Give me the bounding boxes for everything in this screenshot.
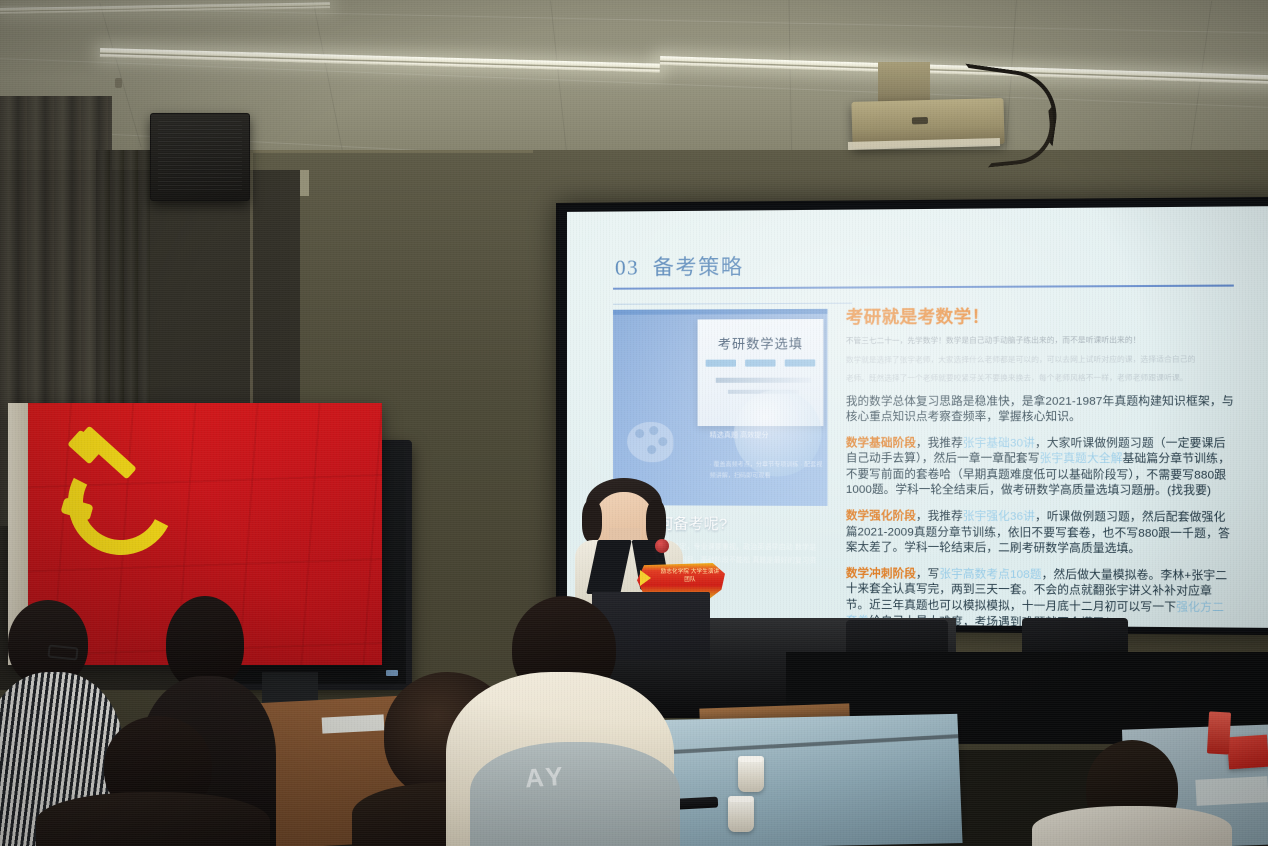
stage-label: 数学冲刺阶段 [846, 568, 916, 581]
microphone-icon[interactable] [655, 539, 669, 553]
card-note-text: 精选真题 高效提分 [710, 430, 769, 441]
paragraph-run: ，我推荐 [916, 437, 963, 449]
desk-center [660, 714, 963, 846]
paper-sheet [322, 714, 385, 733]
card-top-bar [613, 309, 827, 315]
book-tag-row [706, 359, 816, 366]
title-divider-secondary [613, 303, 852, 305]
hammer-and-sickle-icon [62, 431, 168, 531]
stage-label: 数学基础阶段 [846, 437, 916, 449]
paper-sheet [1195, 776, 1268, 806]
slide-content-heading: 考研就是考数学！ [846, 301, 1236, 328]
card-bullet-text: · 覆盖高频考点，分章节专项训练 · 配套视频讲解，扫码即可观看 [710, 460, 828, 482]
lecture-hall-photo: 03 备考策略 考研数学选填 [0, 0, 1268, 846]
paragraph-run: ，我推荐 [916, 510, 963, 522]
palette-icon [627, 422, 673, 462]
paper-cup[interactable] [738, 756, 764, 792]
banner-text: 励志化学院 大学生演讲团队 [659, 568, 721, 584]
book-subtitle-bar [716, 378, 811, 383]
slide-section-heading: 03 备考策略 [615, 251, 744, 282]
stage-label: 数学强化阶段 [846, 510, 916, 522]
book-title: 考研数学选填 [698, 333, 824, 353]
presenter-hair-side [582, 500, 602, 542]
wall-speaker-icon [150, 113, 250, 201]
slide-section-title: 备考策略 [653, 255, 744, 280]
faded-note-1: 不管三七二十一，先学数学！数学是自己动手动脑子练出来的，而不是听课听出来的！ [846, 334, 1236, 347]
slide-image-card: 考研数学选填 精选真题 高效提分 · 覆盖高频考点，分章节专项训练 · 配套视频… [613, 309, 827, 506]
red-desk-card [1227, 735, 1268, 770]
slide-paragraph-list: 我的数学总体复习思路是稳准快，是拿2021-1987年真题构建知识框架，与核心重… [846, 394, 1236, 628]
book-reference: 张宇真题大全解 [1040, 453, 1123, 465]
audience-shoulders [470, 742, 680, 846]
slide-text-column: 考研就是考数学！ 不管三七二十一，先学数学！数学是自己动手动脑子练出来的，而不是… [846, 301, 1236, 628]
title-divider [613, 285, 1234, 290]
wall-light-fixture [300, 170, 309, 196]
book-reference: 张宇高数考点108题 [939, 568, 1041, 581]
paper-cup[interactable] [728, 796, 754, 832]
faded-note-2: 数学就是选择了张宇老师，大家选择什么老师都是可以的，可以去网上试听对应的课，选择… [846, 353, 1236, 366]
audience-shoulders [36, 792, 270, 846]
book-tag [785, 359, 816, 366]
paragraph-run: ，写 [916, 568, 939, 580]
desk-seam [660, 734, 958, 754]
banner-star-icon [640, 570, 651, 586]
audience-shoulders [1032, 806, 1232, 846]
faded-note-3: 老师。既然选择了一个老师就要咬紧牙关不要换来换去，每个老师风格不一样，老师老师跟… [846, 372, 1236, 384]
shirt-print-text: AY [524, 761, 568, 795]
display-led-indicator [386, 670, 398, 676]
book-tag [745, 360, 775, 367]
red-stand-card [1207, 711, 1231, 754]
speaker-grille [158, 121, 242, 193]
book-reference: 张宇强化36讲 [963, 511, 1035, 523]
book-tag [706, 360, 736, 367]
sprinkler-head [115, 78, 122, 88]
projector-lens [912, 117, 928, 124]
slide-section-number: 03 [615, 255, 639, 279]
slide-paragraph-overview: 我的数学总体复习思路是稳准快，是拿2021-1987年真题构建知识框架，与核心重… [846, 394, 1236, 426]
book-reference: 张宇基础30讲 [963, 437, 1035, 449]
paragraph-run: 我的数学总体复习思路是稳准快，是拿2021-1987年真题构建知识框架，与核心重… [846, 395, 1234, 423]
slide-paragraph-foundation-stage: 数学基础阶段，我推荐张宇基础30讲，大家听课做例题习题（一定要课后自己动手去算）… [846, 436, 1236, 500]
slide-paragraph-intensive-stage: 数学强化阶段，我推荐张宇强化36讲，听课做例题习题，然后配套做强化篇2021-2… [846, 509, 1236, 558]
